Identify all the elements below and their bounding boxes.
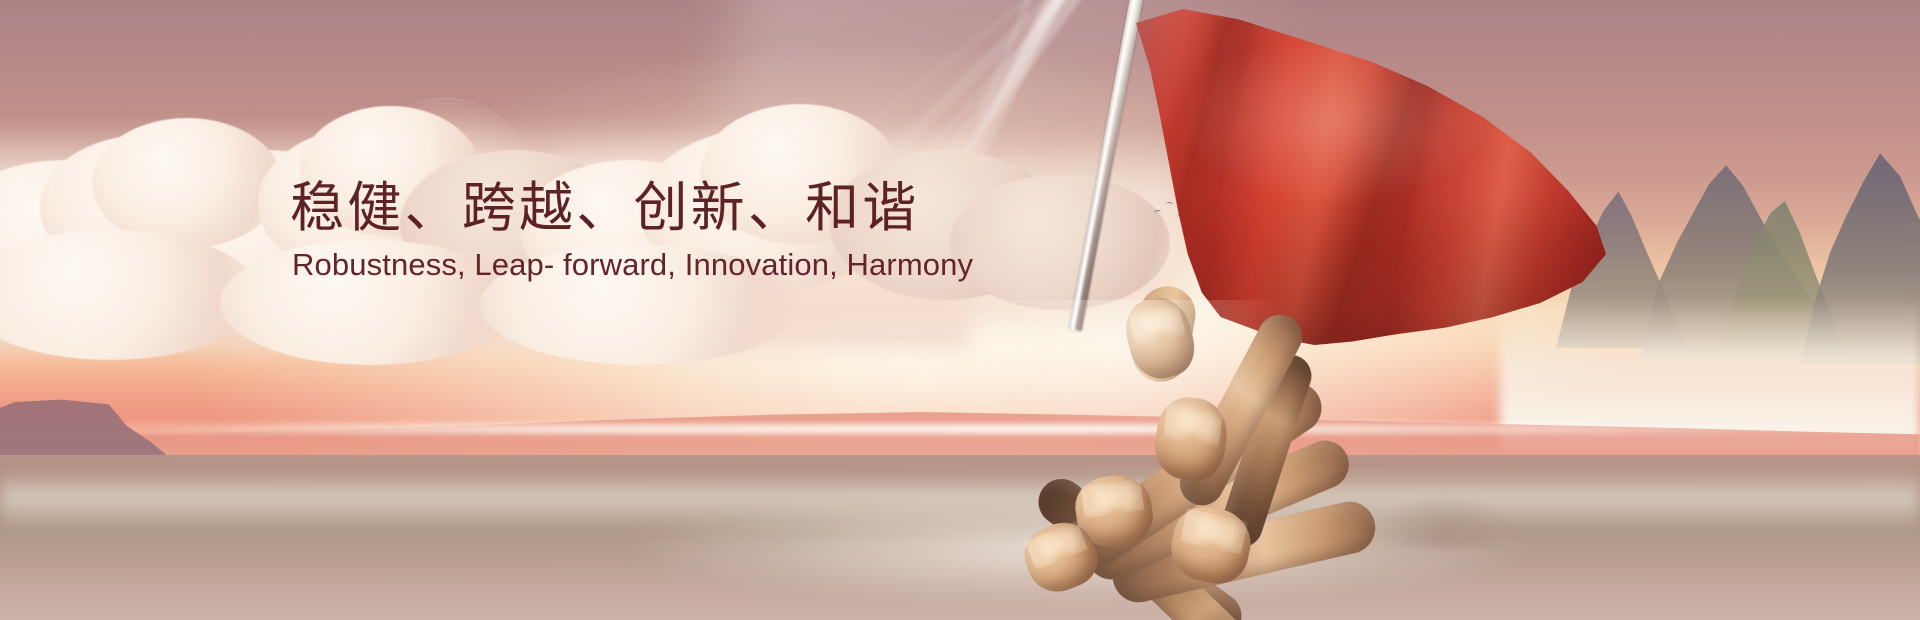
- mountain-peak: [1720, 195, 1840, 345]
- shrub-cluster: [1380, 490, 1510, 548]
- cloud-puff: [40, 135, 250, 280]
- subline-en: Robustness, Leap- forward, Innovation, H…: [292, 246, 1250, 284]
- arms-backlight: [960, 300, 1380, 620]
- cloud-puff: [0, 160, 190, 310]
- headline-zh: 稳健、跨越、创新、和谐: [290, 176, 1250, 240]
- hero-banner: 稳健、跨越、创新、和谐 Robustness, Leap- forward, I…: [0, 0, 1920, 620]
- mountain-peak: [1800, 140, 1920, 365]
- mesa-butte: [0, 390, 350, 510]
- cloud-puff: [0, 230, 260, 360]
- cloud-puff: [92, 118, 282, 248]
- banner-copy: 稳健、跨越、创新、和谐 Robustness, Leap- forward, I…: [290, 176, 1250, 284]
